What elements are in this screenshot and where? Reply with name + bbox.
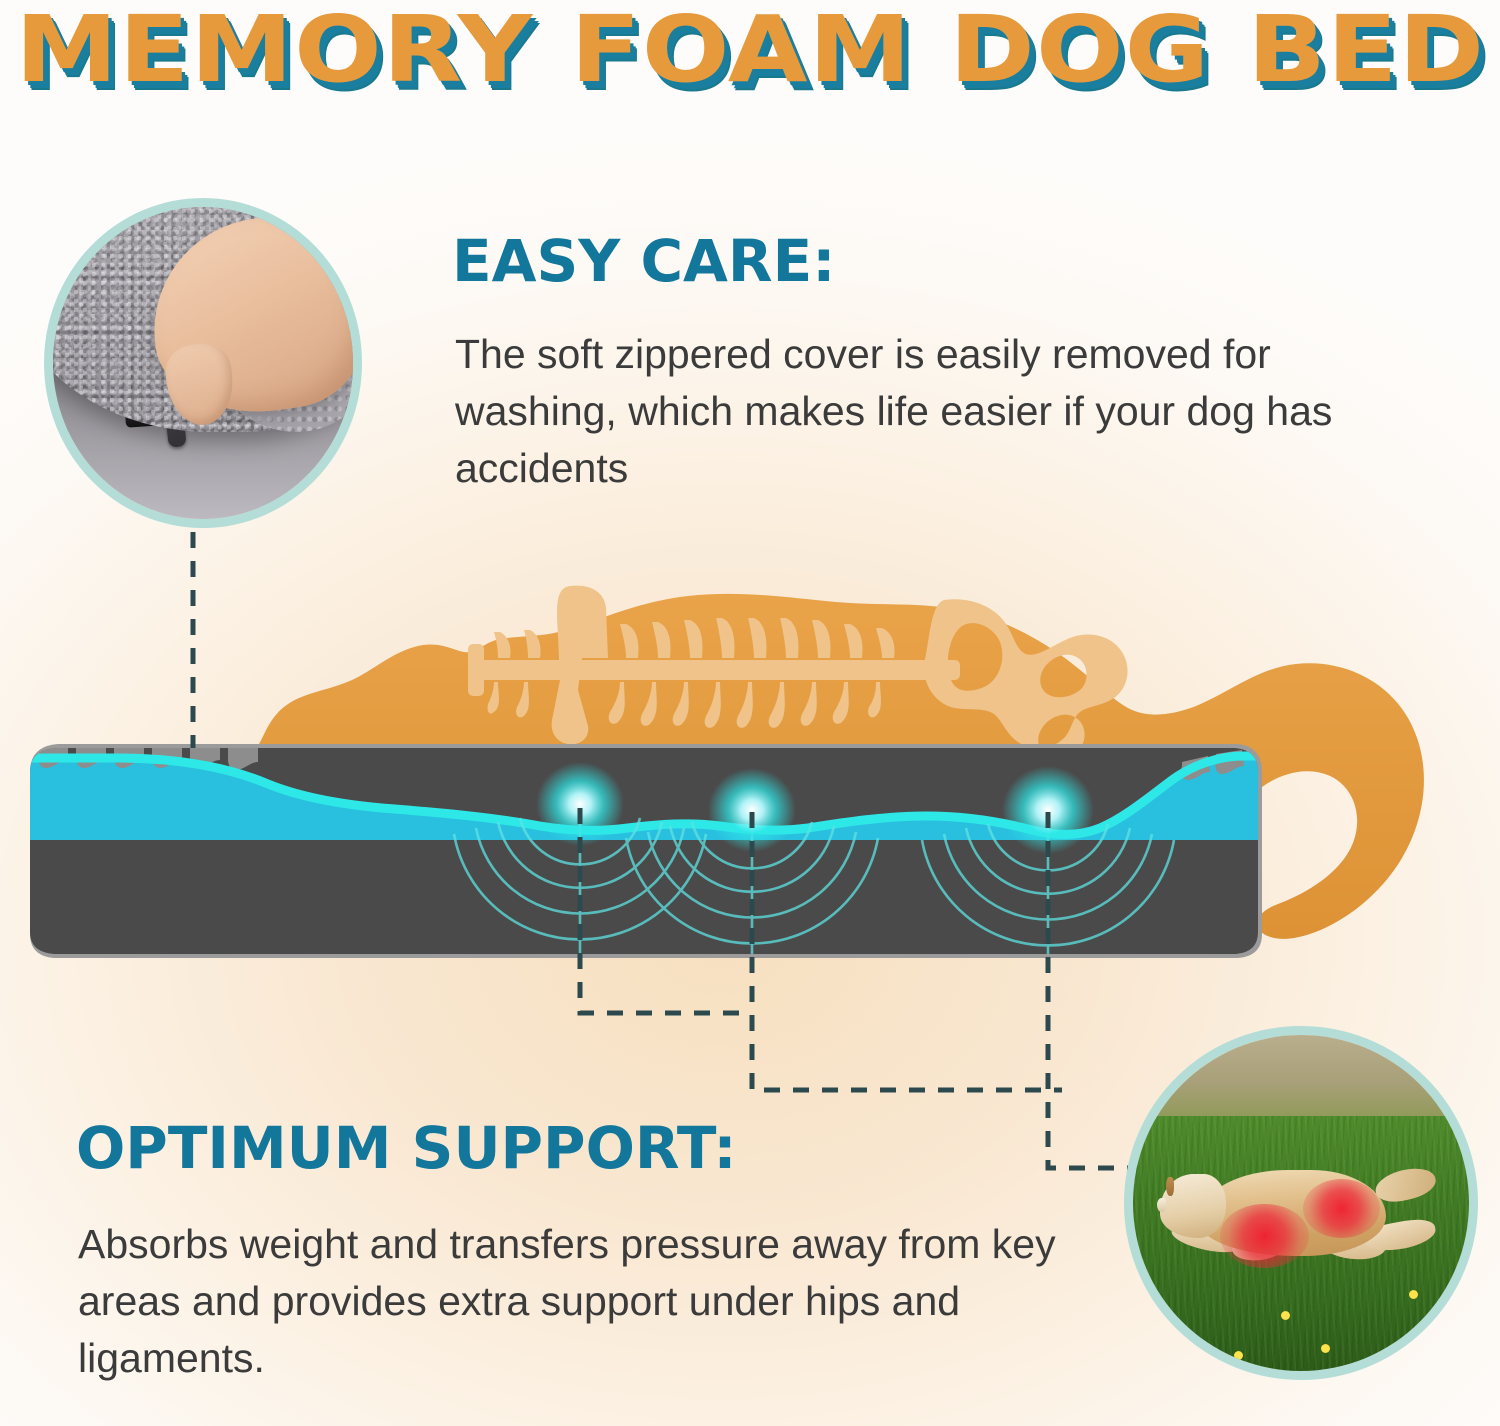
dog-figure	[1160, 1163, 1436, 1277]
page-title: MEMORY FOAM DOG BED	[15, 2, 1485, 98]
dandelion-icon	[1409, 1290, 1418, 1299]
field-horizon	[1133, 1035, 1469, 1122]
dandelion-icon	[1281, 1311, 1290, 1320]
dandelion-icon	[1234, 1351, 1243, 1360]
pressure-highlight-hip	[1303, 1179, 1380, 1238]
product-infographic: MEMORY FOAM DOG BED	[0, 0, 1500, 1426]
easy-care-body-text: The soft zippered cover is easily remove…	[455, 326, 1355, 497]
title-banner: MEMORY FOAM DOG BED	[0, 2, 1500, 98]
optimum-support-body-text: Absorbs weight and transfers pressure aw…	[78, 1216, 1088, 1387]
running-dog-photo	[1124, 1026, 1478, 1380]
dog-head	[1160, 1174, 1226, 1238]
zipper-photo-inner	[53, 207, 353, 519]
easy-care-heading: EASY CARE:	[452, 230, 835, 292]
memory-foam-bed-illustration	[0, 540, 1500, 1020]
zipper-cover-photo	[44, 198, 362, 528]
dog-tail	[1372, 1163, 1438, 1206]
dog-ear	[1166, 1177, 1173, 1196]
dog-photo-inner	[1133, 1035, 1469, 1371]
dog-snout	[1157, 1198, 1166, 1212]
optimum-support-heading: OPTIMUM SUPPORT:	[76, 1117, 737, 1179]
pressure-highlight-shoulder	[1220, 1204, 1308, 1268]
